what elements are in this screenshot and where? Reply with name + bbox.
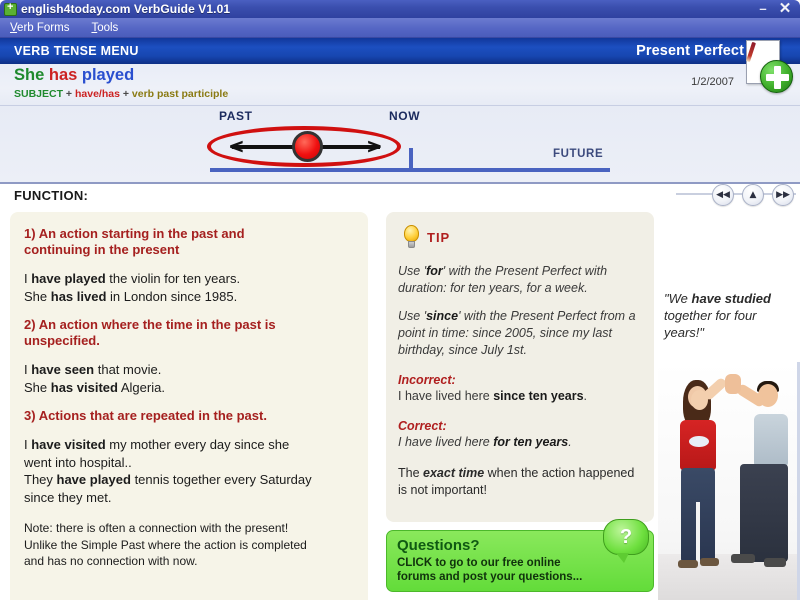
quote-post: together for four years!"	[664, 308, 757, 340]
menubar: Verb Forms Tools	[0, 18, 800, 38]
correct-example: I have lived here for ten years.	[398, 434, 642, 451]
verb-tense-menu-label[interactable]: VERB TENSE MENU	[14, 44, 139, 58]
tense-formula: SUBJECT + have/has + verb past participl…	[14, 88, 228, 100]
ex-2-1-bold: have seen	[31, 362, 94, 377]
tip-for-bold: for	[426, 264, 443, 278]
timeline-now-marker	[409, 148, 413, 172]
ex-1-2-bold: has lived	[51, 289, 107, 304]
verbguide-window: english4today.com VerbGuide V1.01 – ✕ Ve…	[0, 0, 800, 600]
photo-high-five-hands	[725, 374, 741, 394]
app-icon	[4, 3, 17, 16]
function-header-row: FUNCTION: ◀◀ ▲ ▶▶	[0, 184, 800, 212]
minimize-button[interactable]: –	[752, 0, 774, 18]
closing-pre: The	[398, 466, 423, 480]
function-panel: 1) An action starting in the past and co…	[10, 212, 368, 600]
ex-3-3-pre: They	[24, 472, 57, 487]
timeline-arrow-left-icon: <	[228, 136, 245, 156]
function-2-examples: I have seen that movie. She has visited …	[24, 361, 354, 396]
ex-2-1-post: that movie.	[94, 362, 161, 377]
ex-3-3-post: tennis together every Saturday	[131, 472, 312, 487]
quote-pre: "We	[664, 291, 692, 306]
questions-body-line1: CLICK to go to our free online	[397, 557, 561, 569]
formula-subject: SUBJECT	[14, 88, 63, 100]
function-3-heading: 3) Actions that are repeated in the past…	[24, 408, 354, 424]
tip-for-pre: Use '	[398, 264, 426, 278]
ex-3-2-post: went into hospital..	[24, 455, 132, 470]
green-plus-icon	[760, 60, 793, 93]
photo-man-shirt	[754, 414, 788, 466]
quote-bold: have studied	[692, 291, 771, 306]
sentence-subject: She	[14, 66, 44, 84]
window-title: english4today.com VerbGuide V1.01	[21, 2, 230, 16]
ex-1-2-post: in London since 1985.	[106, 289, 237, 304]
forward-icon[interactable]: ▶▶	[772, 184, 794, 206]
ex-1-1-bold: have played	[31, 271, 105, 286]
tip-closing: The exact time when the action happened …	[398, 465, 642, 499]
correct-pre: I have lived here	[398, 435, 493, 449]
sentence-verb: played	[82, 66, 134, 84]
rewind-icon[interactable]: ◀◀	[712, 184, 734, 206]
function-2-heading-line2: unspecified.	[24, 333, 100, 348]
ex-3-1-bold: have visited	[31, 437, 105, 452]
ex-2-2-post: Algeria.	[118, 380, 165, 395]
function-title: FUNCTION:	[14, 188, 88, 203]
timeline-now-label: NOW	[389, 109, 420, 123]
sentence-auxiliary: has	[49, 66, 77, 84]
menu-verb-forms-label: erb Forms	[17, 22, 69, 34]
ex-3-1-post: my mother every day since she	[106, 437, 290, 452]
questions-body-line2: forums and post your questions...	[397, 571, 582, 583]
ex-2-2-bold: has visited	[51, 380, 118, 395]
up-arrow-icon[interactable]: ▲	[742, 184, 764, 206]
formula-auxiliary: have/has	[75, 88, 120, 100]
function-note: Note: there is often a connection with t…	[24, 520, 354, 570]
ex-1-1-post: the violin for ten years.	[106, 271, 240, 286]
ex-1-2-pre: She	[24, 289, 51, 304]
ex-3-3-bold: have played	[57, 472, 131, 487]
formula-participle: verb past participle	[132, 88, 228, 100]
question-mark-glyph: ?	[620, 526, 632, 549]
menu-tools[interactable]: Tools	[89, 21, 126, 35]
lightbulb-icon	[404, 225, 419, 249]
photo-woman-shoe-right	[700, 558, 719, 566]
timeline-action-dot	[292, 131, 323, 162]
timeline-arrow-right-icon: >	[366, 136, 383, 156]
note-line1: Note: there is often a connection with t…	[24, 521, 288, 535]
closing-bold: exact time	[423, 466, 484, 480]
photo-woman-shirt-logo	[689, 436, 709, 447]
function-2-heading: 2) An action where the time in the past …	[24, 317, 354, 349]
menu-tools-label: ools	[97, 22, 118, 34]
photo-woman-leg-gap	[696, 502, 700, 562]
high-five-couple-photo	[658, 362, 800, 600]
photo-woman-shoe-left	[678, 560, 698, 568]
tip-since-pre: Use '	[398, 309, 426, 323]
current-tense-title: Present Perfect	[636, 43, 744, 59]
spacer-2	[24, 396, 354, 406]
tip-since-bold: since	[426, 309, 458, 323]
spacer-1	[24, 305, 354, 315]
incorrect-pre: I have lived here	[398, 389, 493, 403]
timeline-past-label: PAST	[219, 109, 253, 123]
ex-2-2-pre: She	[24, 380, 51, 395]
formula-plus-2: +	[120, 88, 132, 100]
function-3-heading-line1: 3) Actions that are repeated in the past…	[24, 408, 267, 423]
function-1-examples: I have played the violin for ten years. …	[24, 270, 354, 305]
incorrect-post: .	[584, 389, 587, 403]
photo-man-shoe-right	[764, 558, 786, 567]
new-document-add-icon[interactable]	[740, 40, 794, 98]
function-1-heading-line2: continuing in the present	[24, 242, 179, 257]
window-titlebar: english4today.com VerbGuide V1.01 – ✕	[0, 0, 800, 18]
function-2-heading-line1: 2) An action where the time in the past …	[24, 317, 276, 332]
correct-bold: for ten years	[493, 435, 568, 449]
tip-label: TIP	[427, 230, 450, 245]
incorrect-example: I have lived here since ten years.	[398, 388, 642, 405]
questions-body: CLICK to go to our free online forums an…	[397, 556, 643, 584]
note-line2: Unlike the Simple Past where the action …	[24, 538, 307, 552]
tip-paragraph-for: Use 'for' with the Present Perfect with …	[398, 263, 642, 297]
photo-man-jeans	[740, 464, 788, 562]
ex-3-4-post: since they met.	[24, 490, 111, 505]
question-bubble-icon: ?	[603, 519, 649, 555]
tip-header: TIP	[398, 222, 642, 252]
verb-tense-menu-bar: VERB TENSE MENU Present Perfect	[0, 38, 800, 64]
student-quote: "We have studied together for four years…	[664, 290, 800, 341]
questions-box[interactable]: Questions? CLICK to go to our free onlin…	[386, 530, 654, 592]
incorrect-heading: Incorrect:	[398, 373, 642, 387]
note-line3: and has no connection with now.	[24, 554, 197, 568]
formula-plus-1: +	[63, 88, 75, 100]
incorrect-bold: since ten years	[493, 389, 583, 403]
menu-verb-forms-accel: V	[10, 22, 17, 34]
function-1-heading-line1: 1) An action starting in the past and	[24, 226, 245, 241]
close-button[interactable]: ✕	[774, 0, 796, 18]
tip-panel: TIP Use 'for' with the Present Perfect w…	[386, 212, 654, 522]
right-panel: "We have studied together for four years…	[658, 212, 800, 600]
photo-man-shoe-left	[731, 554, 755, 563]
nav-buttons: ◀◀ ▲ ▶▶	[712, 184, 794, 206]
menu-verb-forms[interactable]: Verb Forms	[8, 21, 77, 35]
correct-heading: Correct:	[398, 419, 642, 433]
example-sentence: She has played	[14, 66, 134, 85]
function-3-examples: I have visited my mother every day since…	[24, 436, 354, 506]
lightbulb-base	[408, 241, 415, 248]
subject-formula-band: She has played SUBJECT + have/has + verb…	[0, 64, 800, 106]
lightbulb-glass	[404, 225, 419, 242]
tip-paragraph-since: Use 'since' with the Present Perfect fro…	[398, 308, 642, 359]
timeline-future-label: FUTURE	[553, 148, 603, 160]
function-1-heading: 1) An action starting in the past and co…	[24, 226, 354, 258]
date-label: 1/2/2007	[691, 76, 734, 88]
correct-post: .	[568, 435, 571, 449]
